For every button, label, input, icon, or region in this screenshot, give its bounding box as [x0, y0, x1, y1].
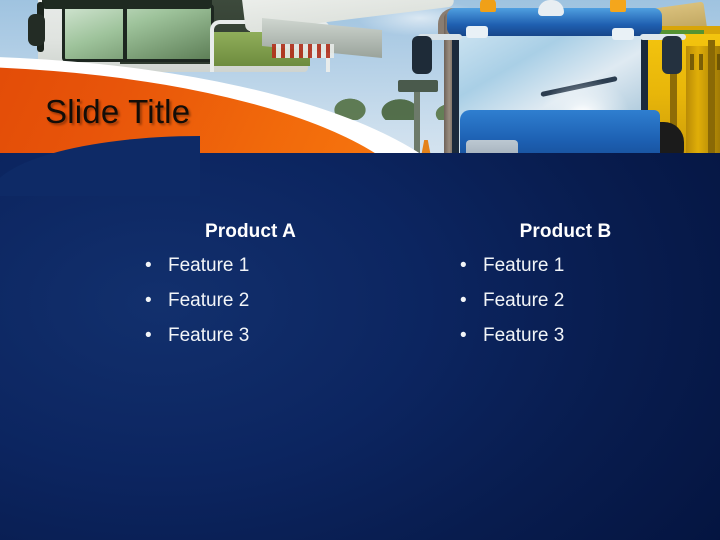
tractor-work-light-left	[466, 26, 488, 38]
combine-mirror	[28, 14, 45, 46]
trailer-lettering	[690, 54, 720, 70]
bullet-icon: •	[145, 251, 152, 281]
page-title: Slide Title	[45, 92, 190, 132]
combine-roof-bar	[42, 0, 212, 9]
column-heading-product-a: Product A	[148, 221, 353, 243]
content-column-product-b: Product B • Feature 1 • Feature 2 • Feat…	[415, 221, 715, 356]
combine-cab-glass	[62, 4, 214, 62]
list-item: • Feature 3	[415, 321, 715, 356]
tractor-beacon-left	[480, 0, 496, 12]
roadside-pole	[414, 84, 420, 162]
list-item: • Feature 3	[100, 321, 400, 356]
list-item-label: Feature 3	[168, 325, 249, 346]
list-item: • Feature 1	[415, 251, 715, 286]
list-item: • Feature 1	[100, 251, 400, 286]
tractor-mirror-left	[412, 36, 432, 74]
list-item: • Feature 2	[415, 286, 715, 321]
list-item-label: Feature 1	[168, 255, 249, 276]
list-item-label: Feature 1	[483, 255, 564, 276]
list-item: • Feature 2	[100, 286, 400, 321]
content-column-product-a: Product A • Feature 1 • Feature 2 • Feat…	[100, 221, 400, 356]
tractor-work-light-right	[612, 28, 634, 40]
feature-list-product-b: • Feature 1 • Feature 2 • Feature 3	[415, 251, 715, 356]
bullet-icon: •	[145, 286, 152, 316]
tractor-mirror-right	[662, 36, 682, 74]
tractor-dome-light	[538, 0, 564, 16]
list-item-label: Feature 2	[168, 290, 249, 311]
bullet-icon: •	[460, 321, 467, 351]
roadside-sign	[398, 80, 438, 92]
feature-list-product-a: • Feature 1 • Feature 2 • Feature 3	[100, 251, 400, 356]
machine-brand-mark	[272, 44, 334, 58]
bullet-icon: •	[460, 251, 467, 281]
bullet-icon: •	[145, 321, 152, 351]
presentation-slide: Slide Title Product A • Feature 1 • Feat…	[0, 0, 720, 540]
list-item-label: Feature 3	[483, 325, 564, 346]
bullet-icon: •	[460, 286, 467, 316]
tractor-beacon-right	[610, 0, 626, 12]
trailer-frame-bar-right	[708, 40, 715, 166]
column-heading-product-b: Product B	[463, 221, 668, 243]
list-item-label: Feature 2	[483, 290, 564, 311]
